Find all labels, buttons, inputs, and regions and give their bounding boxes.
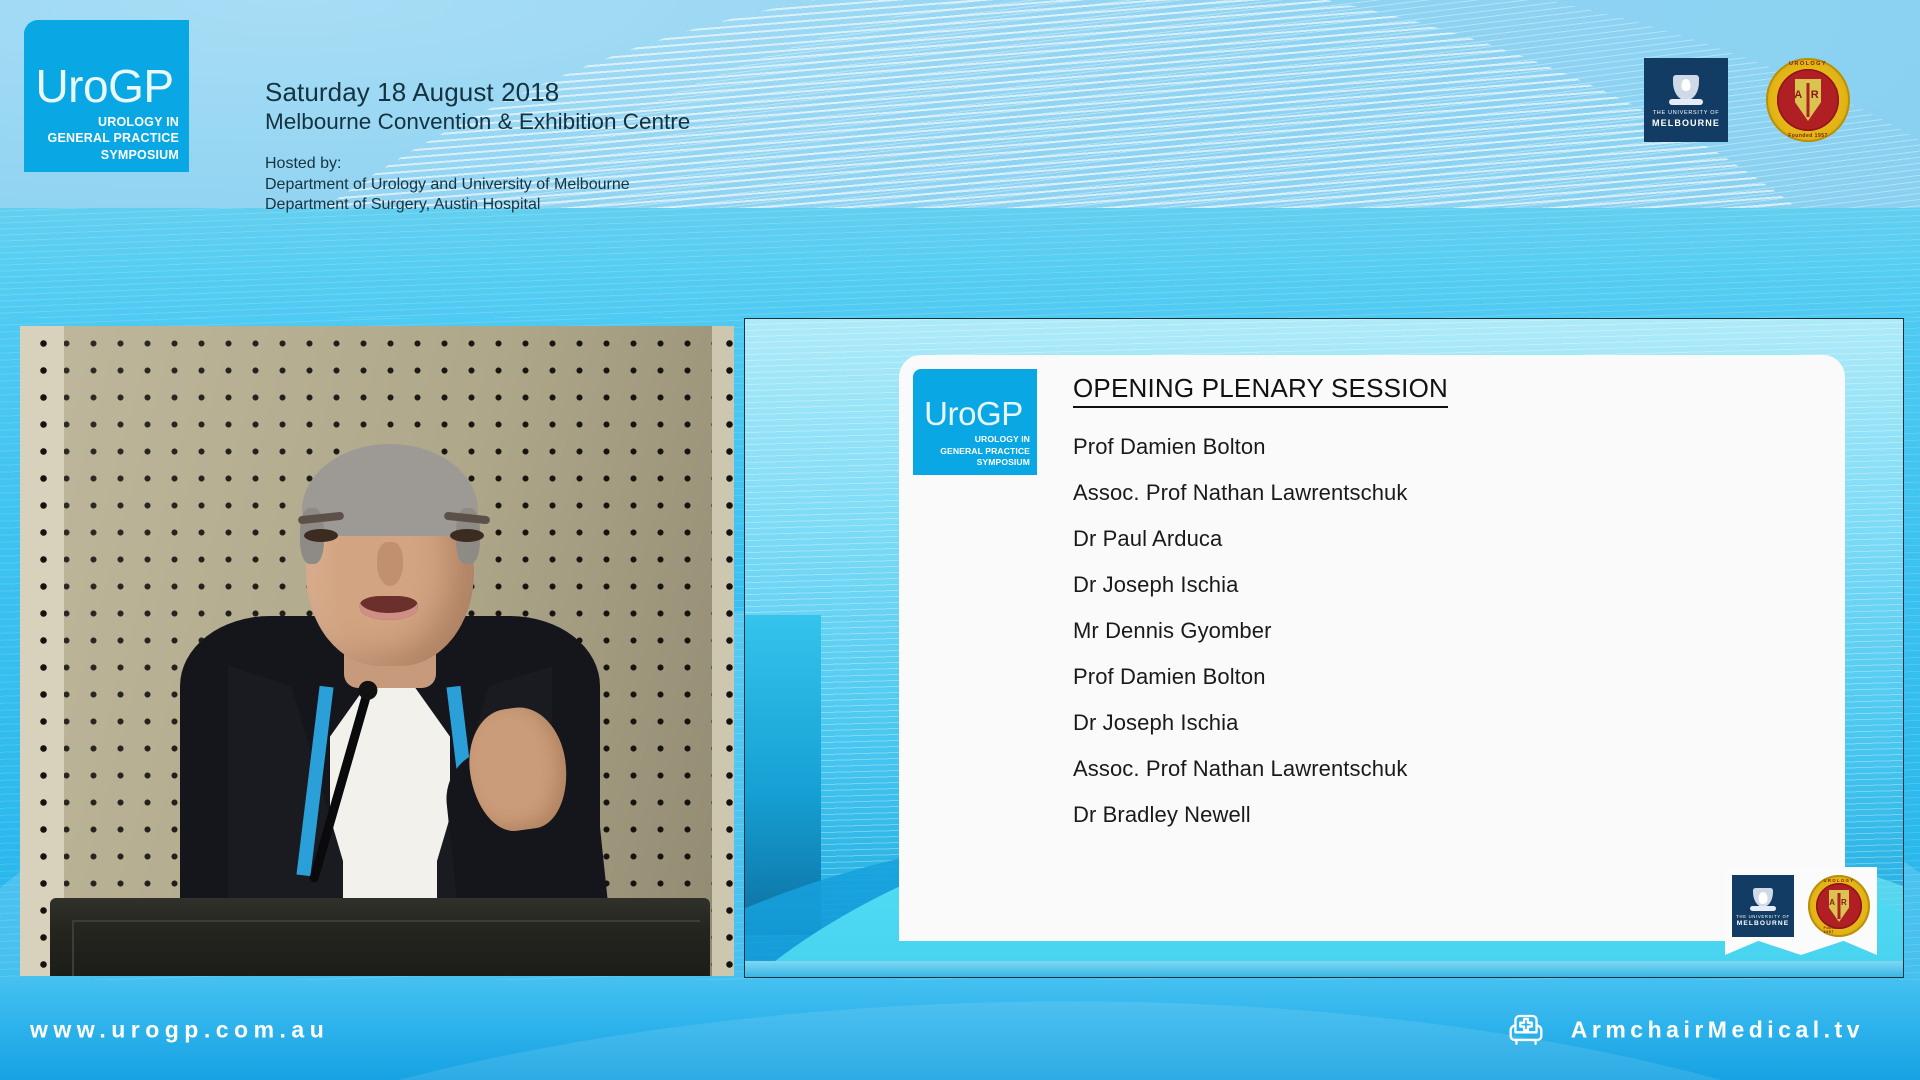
host-line-1: Department of Urology and University of …: [265, 175, 690, 195]
sponsor-logos: THE UNIVERSITY OF MELBOURNE UROLOGY AUST…: [1644, 58, 1850, 142]
event-date: Saturday 18 August 2018: [265, 78, 690, 107]
melbourne-crest-icon: [1669, 72, 1703, 104]
urogp-logo-tagline: UROLOGY IN GENERAL PRACTICE SYMPOSIUM: [24, 114, 189, 164]
slide-tagline-line3: SYMPOSIUM: [913, 457, 1030, 468]
speaker-name-row: Dr Paul Arduca: [1073, 526, 1821, 552]
lectern: [50, 898, 710, 976]
armchair-medical-icon: [1503, 1005, 1549, 1056]
speaker-shirt: [330, 686, 450, 916]
slide-logo-wordmark: UroGP: [910, 397, 1037, 430]
slide-bottom-bar: [745, 961, 1903, 977]
slide-tagline-line1: UROLOGY IN: [913, 434, 1030, 445]
speaker-name-row: Assoc. Prof Nathan Lawrentschuk: [1073, 756, 1821, 782]
urogp-logo: UroGP UROLOGY IN GENERAL PRACTICE SYMPOS…: [24, 20, 189, 172]
austin-crest-letters: A R: [1777, 89, 1839, 101]
speaker-name-row: Assoc. Prof Nathan Lawrentschuk: [1073, 480, 1821, 506]
armchair-medical-branding[interactable]: ArmchairMedical.tv: [1503, 1005, 1864, 1056]
slide-content-card: UroGP UROLOGY IN GENERAL PRACTICE SYMPOS…: [899, 355, 1845, 941]
speaker-video-pane[interactable]: [20, 326, 734, 976]
site-url-link[interactable]: www.urogp.com.au: [30, 1017, 329, 1044]
slide-text-block: OPENING PLENARY SESSION Prof Damien Bolt…: [1073, 373, 1821, 848]
slide-sponsor-badge: THE UNIVERSITY OF MELBOURNE UROLOGY AUST…: [1725, 867, 1877, 955]
video-player-frame: UroGP UROLOGY IN GENERAL PRACTICE SYMPOS…: [0, 0, 1920, 1080]
wall-panel-right: [712, 326, 734, 976]
event-venue: Melbourne Convention & Exhibition Centre: [265, 108, 690, 136]
slide-unimelb-line2: MELBOURNE: [1737, 920, 1789, 927]
urogp-tagline-line3: SYMPOSIUM: [24, 147, 179, 164]
hosted-by-label: Hosted by:: [265, 154, 690, 174]
unimelb-line2: MELBOURNE: [1652, 118, 1720, 128]
slide-logo-tagline: UROLOGY IN GENERAL PRACTICE SYMPOSIUM: [913, 434, 1037, 468]
header-bottom-band: [0, 208, 1920, 318]
austin-text-top: UROLOGY: [1789, 61, 1827, 67]
austin-urology-repat-logo: UROLOGY AUSTIN REPAT Founded 1957 A R: [1766, 58, 1850, 142]
unimelb-line1: THE UNIVERSITY OF: [1653, 110, 1720, 116]
urogp-logo-wordmark: UroGP: [20, 63, 189, 109]
presentation-slide[interactable]: UroGP UROLOGY IN GENERAL PRACTICE SYMPOS…: [744, 318, 1904, 978]
wall-panel-left: [20, 326, 64, 976]
footer-bar: www.urogp.com.au ArmchairMedical.tv: [0, 980, 1920, 1080]
event-details: Saturday 18 August 2018 Melbourne Conven…: [265, 78, 690, 216]
slide-university-of-melbourne-logo: THE UNIVERSITY OF MELBOURNE: [1732, 875, 1794, 937]
austin-text-bottom: Founded 1957: [1788, 133, 1828, 139]
speaker-hair: [302, 444, 478, 536]
event-header-banner: UroGP UROLOGY IN GENERAL PRACTICE SYMPOS…: [0, 0, 1920, 318]
speaker-name-row: Dr Bradley Newell: [1073, 802, 1821, 828]
speaker-name-row: Prof Damien Bolton: [1073, 434, 1821, 460]
slide-melbourne-crest-icon: [1750, 886, 1776, 910]
speaker-eye-left: [304, 529, 338, 542]
urogp-tagline-line1: UROLOGY IN: [24, 114, 179, 131]
slide-urogp-logo: UroGP UROLOGY IN GENERAL PRACTICE SYMPOS…: [913, 369, 1037, 475]
speaker-name-row: Dr Joseph Ischia: [1073, 710, 1821, 736]
austin-crest-icon: A R: [1777, 69, 1839, 131]
speaker-name-row: Prof Damien Bolton: [1073, 664, 1821, 690]
slide-tagline-line2: GENERAL PRACTICE: [913, 446, 1030, 457]
speaker-nose: [377, 542, 403, 586]
speaker-name-row: Mr Dennis Gyomber: [1073, 618, 1821, 644]
speaker-name-row: Dr Joseph Ischia: [1073, 572, 1821, 598]
speaker-mouth: [360, 596, 418, 620]
slide-title: OPENING PLENARY SESSION: [1073, 373, 1448, 408]
armchair-medical-label: ArmchairMedical.tv: [1571, 1017, 1864, 1044]
host-line-2: Department of Surgery, Austin Hospital: [265, 195, 690, 215]
university-of-melbourne-logo: THE UNIVERSITY OF MELBOURNE: [1644, 58, 1728, 142]
presentation-body: UroGP UROLOGY IN GENERAL PRACTICE SYMPOS…: [0, 318, 1920, 980]
urogp-tagline-line2: GENERAL PRACTICE: [24, 130, 179, 147]
speaker-name-list: Prof Damien BoltonAssoc. Prof Nathan Law…: [1073, 434, 1821, 828]
speaker-eye-right: [450, 529, 484, 542]
speaker-figure: [140, 396, 640, 916]
header-band-stripes: [0, 208, 1920, 318]
slide-austin-urology-repat-logo: UROLOGY AUSTIN REPAT Founded 1957 A R: [1808, 875, 1870, 937]
slide-austin-crest-icon: A R: [1816, 883, 1862, 929]
slide-austin-crest-letters: A R: [1816, 898, 1862, 907]
slide-unimelb-line1: THE UNIVERSITY OF: [1736, 914, 1789, 919]
